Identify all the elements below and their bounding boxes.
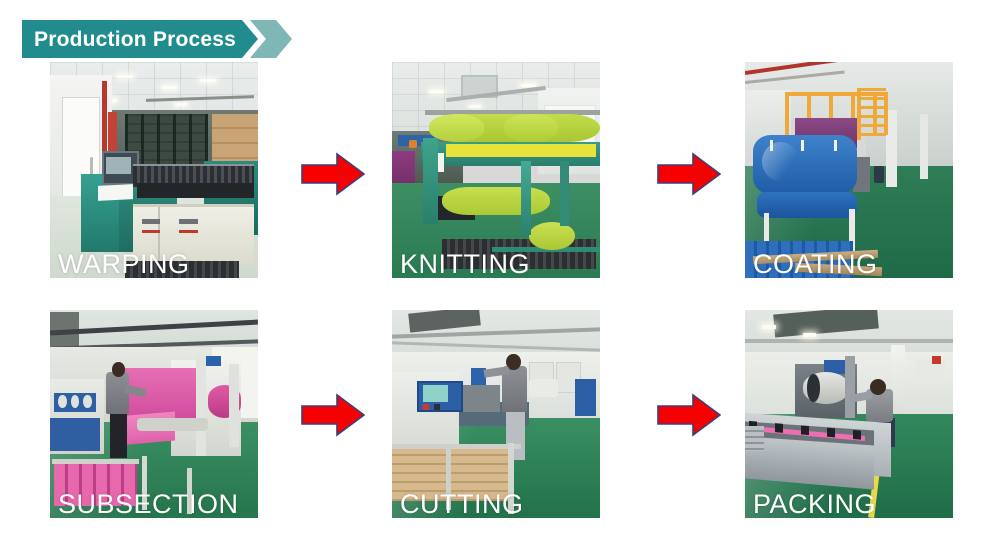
warping-scene [50,62,258,278]
subsection-scene [50,310,258,518]
step-label-coating: COATING [753,250,878,278]
packing-scene [745,310,953,518]
right-arrow-icon-3 [301,393,365,437]
step-photo-knitting: KNITTING [392,62,600,278]
step-label-cutting: CUTTING [400,490,523,518]
step-label-warping: WARPING [58,250,190,278]
cutting-scene [392,310,600,518]
step-photo-cutting: CUTTING [392,310,600,518]
right-arrow-icon-4 [657,393,721,437]
banner-body: Production Process [22,20,258,58]
right-arrow-icon-2 [657,152,721,196]
step-photo-subsection: SUBSECTION [50,310,258,518]
step-photo-warping: WARPING [50,62,258,278]
step-label-packing: PACKING [753,490,876,518]
step-photo-packing: PACKING [745,310,953,518]
step-label-knitting: KNITTING [400,250,530,278]
coating-scene [745,62,953,278]
step-photo-coating: COATING [745,62,953,278]
step-label-subsection: SUBSECTION [58,490,239,518]
banner-title: Production Process [34,29,236,50]
right-arrow-icon-1 [301,152,365,196]
production-process-banner: Production Process [22,20,292,58]
knitting-scene [392,62,600,278]
